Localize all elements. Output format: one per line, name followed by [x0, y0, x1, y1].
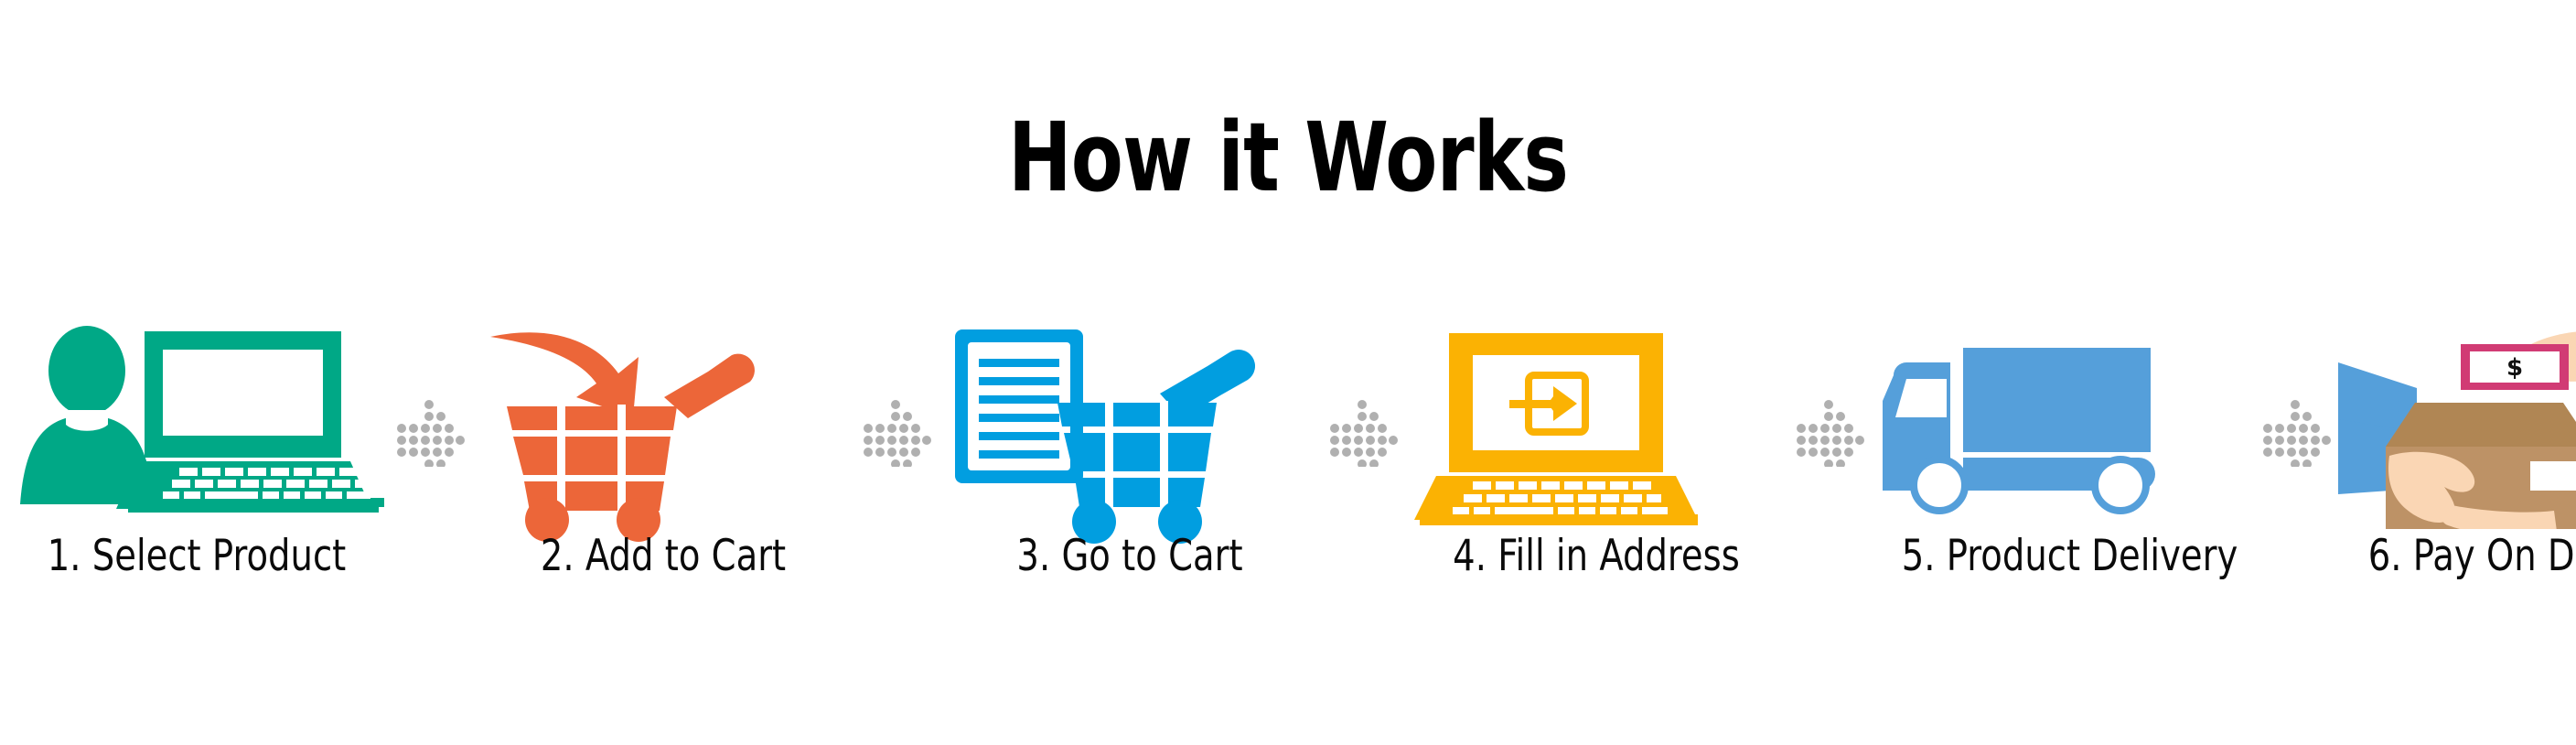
cart-icon	[1057, 350, 1255, 509]
box-top-face	[2386, 403, 2576, 447]
dotted-arrow-right-icon	[1330, 399, 1398, 467]
step-6-label: 6. Pay On Delivery	[2368, 531, 2576, 582]
dotted-arrow-right-icon	[1797, 399, 1864, 467]
step-4-artwork	[1400, 319, 1793, 520]
separator-5	[2259, 319, 2333, 611]
infographic-canvas: How it Works	[0, 0, 2576, 745]
delivery-truck-icon	[1866, 319, 2259, 520]
step-2-label: 2. Add to Cart	[502, 531, 825, 582]
step-3-go-to-cart[interactable]: 3. Go to Cart	[933, 319, 1326, 611]
separator-4	[1793, 319, 1866, 611]
person-with-laptop-icon	[0, 319, 393, 520]
step-3-label: 3. Go to Cart	[969, 531, 1292, 582]
step-1-artwork	[0, 319, 393, 520]
steps-row: 1. Select Product	[0, 319, 2576, 611]
box-shipping-label	[2530, 461, 2576, 491]
step-5-artwork	[1866, 319, 2259, 520]
separator-3	[1326, 319, 1400, 611]
step-1-label: 1. Select Product	[36, 531, 359, 582]
step-6-pay-on-delivery[interactable]: $ 6. Pay On Delivery	[2333, 319, 2576, 611]
step-1-select-product[interactable]: 1. Select Product	[0, 319, 393, 611]
document-with-shopping-cart-icon	[933, 319, 1326, 520]
dotted-arrow-right-icon	[2263, 399, 2331, 467]
dotted-arrow-right-icon	[864, 399, 931, 467]
separator-1	[393, 319, 467, 611]
dotted-arrow-right-icon	[397, 399, 465, 467]
step-4-label: 4. Fill in Address	[1435, 531, 1758, 582]
step-2-add-to-cart[interactable]: 2. Add to Cart	[467, 319, 860, 611]
money-note: $	[2461, 344, 2569, 390]
step-5-label: 5. Product Delivery	[1902, 531, 2225, 582]
step-3-artwork	[933, 319, 1326, 520]
step-4-fill-in-address[interactable]: 4. Fill in Address	[1400, 319, 1793, 611]
shopping-cart-with-curved-arrow-icon	[467, 319, 860, 520]
money-dollar-symbol: $	[2506, 354, 2523, 382]
step-2-artwork	[467, 319, 860, 520]
step-5-product-delivery[interactable]: 5. Product Delivery	[1866, 319, 2259, 611]
laptop-with-login-arrow-icon	[1400, 319, 1793, 520]
page-title: How it Works	[258, 103, 2319, 212]
separator-2	[860, 319, 933, 611]
step-6-artwork: $	[2333, 319, 2576, 520]
hands-exchanging-box-and-money-icon: $	[2333, 319, 2576, 529]
